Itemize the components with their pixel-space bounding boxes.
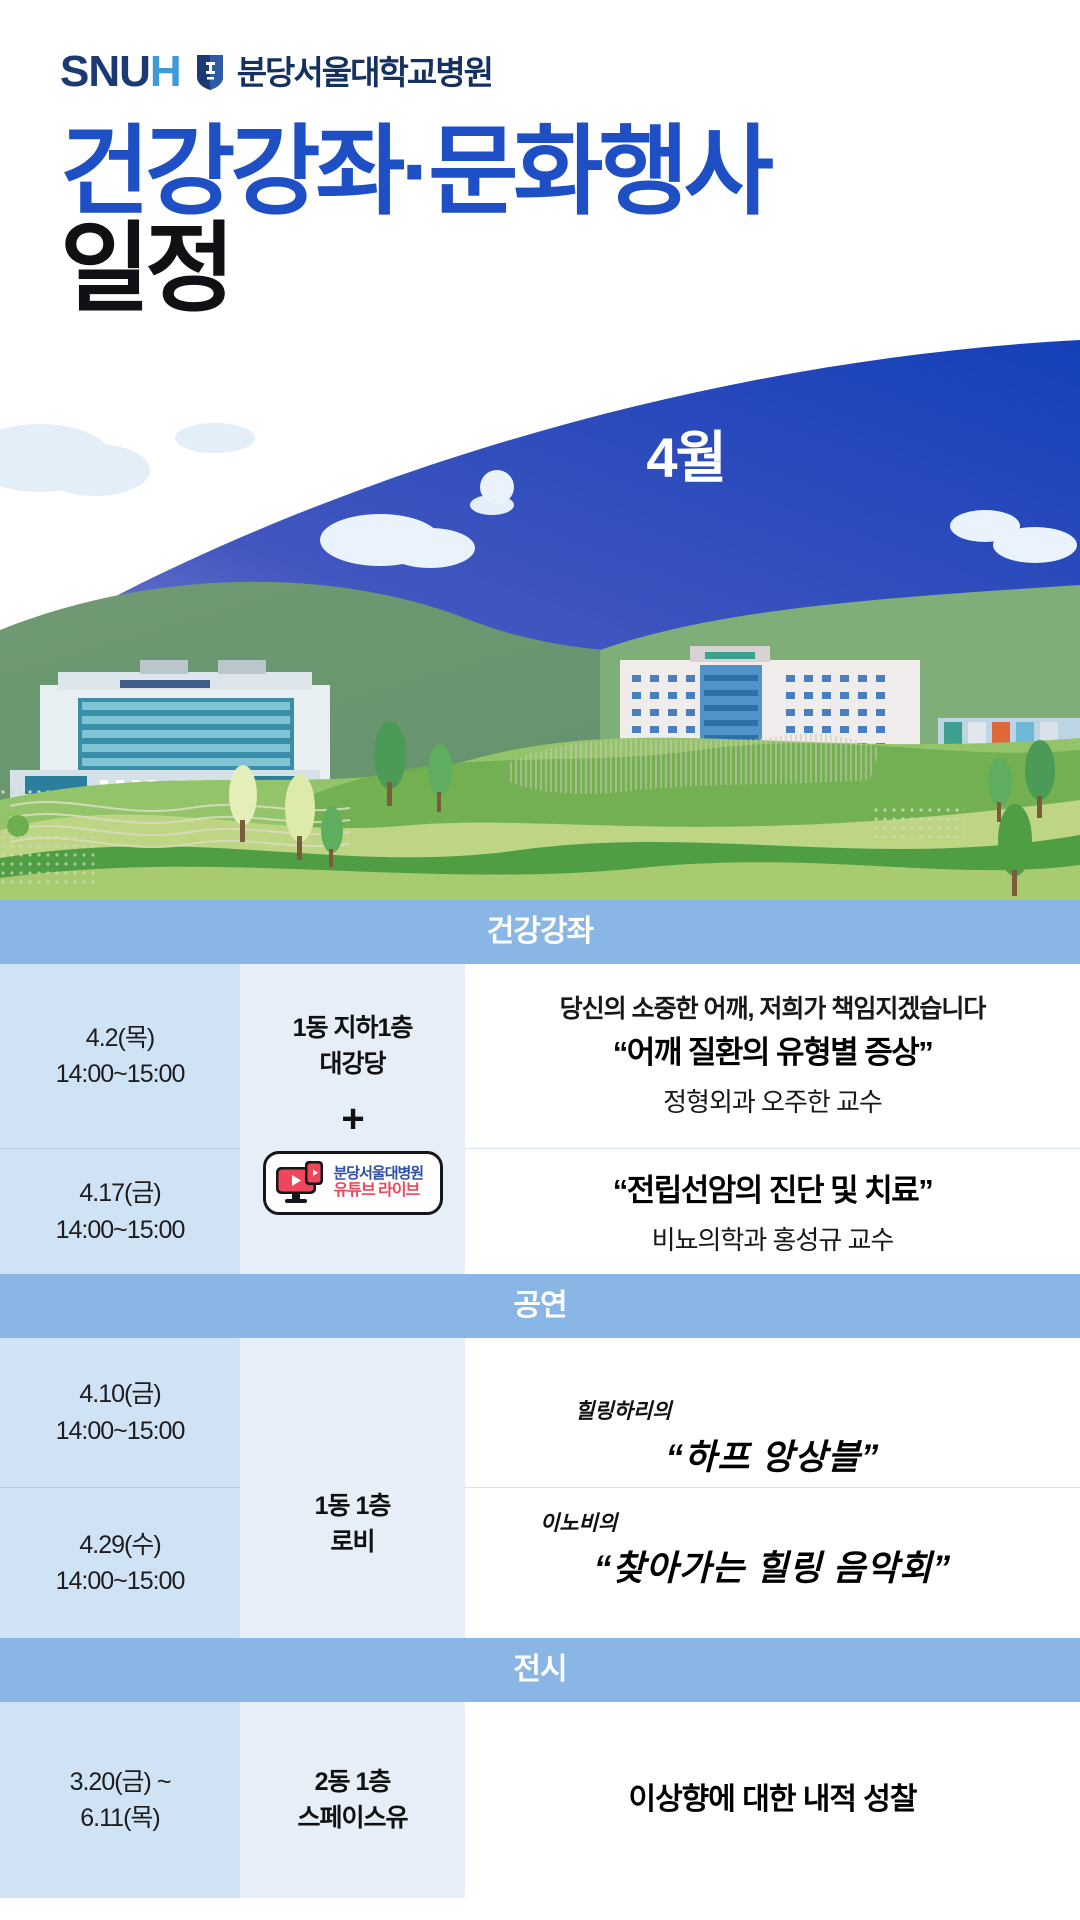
page-title-line2: 일정 bbox=[60, 217, 1080, 320]
month-badge: 4월 bbox=[646, 430, 725, 486]
row-place-cell: 1동 지하1층 대강당 + bbox=[240, 964, 465, 1149]
place-line-2: 로비 bbox=[330, 1524, 374, 1560]
row-content-cell: 이노비의 “찾아가는 힐링 음악회” bbox=[465, 1488, 1080, 1638]
lecture-title: “어깨 질환의 유형별 증상” bbox=[613, 1031, 933, 1074]
youtube-live-badge[interactable]: 분당서울대병원 유튜브 라이브 bbox=[263, 1151, 443, 1215]
poster-root: SNUH 분당서울대학교병원 건강강좌·문화행사 일정 bbox=[0, 0, 1080, 1920]
section-header-performance: 공연 bbox=[0, 1274, 1080, 1338]
row-content-cell: 이상향에 대한 내적 성찰 bbox=[465, 1702, 1080, 1898]
table-row: 4.10(금) 14:00~15:00 힐링하리의 “하프 앙상블” bbox=[0, 1338, 1080, 1488]
date-line: 4.29(수) bbox=[79, 1527, 160, 1563]
row-place-cell-shared: 1동 1층 로비 bbox=[240, 1488, 465, 1638]
table-row: 4.29(수) 14:00~15:00 1동 1층 로비 이노비의 “찾아가는 … bbox=[0, 1488, 1080, 1638]
schedule-table: 건강강좌 4.2(목) 14:00~15:00 1동 지하1층 대강당 + 당신… bbox=[0, 900, 1080, 1898]
row-content-cell: 당신의 소중한 어깨, 저희가 책임지겠습니다 “어깨 질환의 유형별 증상” … bbox=[465, 964, 1080, 1149]
lecture-speaker: 비뇨의학과 홍성규 교수 bbox=[652, 1222, 894, 1258]
logo-wordmark: SNUH bbox=[60, 50, 181, 94]
section-header-health-lecture: 건강강좌 bbox=[0, 900, 1080, 964]
time-line: 14:00~15:00 bbox=[56, 1413, 185, 1449]
table-row: 4.2(목) 14:00~15:00 1동 지하1층 대강당 + 당신의 소중한… bbox=[0, 964, 1080, 1149]
youtube-badge-text: 분당서울대병원 유튜브 라이브 bbox=[334, 1165, 424, 1201]
place-line-1: 1동 지하1층 bbox=[293, 1010, 413, 1046]
logo-wordmark-highlight: H bbox=[150, 47, 181, 96]
youtube-live-monitor-icon bbox=[274, 1161, 328, 1205]
row-content-cell: 힐링하리의 “하프 앙상블” bbox=[465, 1338, 1080, 1488]
performance-artist: 힐링하리의 bbox=[575, 1398, 672, 1425]
time-line: 14:00~15:00 bbox=[56, 1563, 185, 1599]
youtube-badge-line1: 분당서울대병원 bbox=[334, 1165, 424, 1182]
date-line: 4.17(금) bbox=[79, 1175, 160, 1211]
performance-artist: 이노비의 bbox=[540, 1510, 617, 1537]
time-line: 14:00~15:00 bbox=[56, 1212, 185, 1248]
row-place-cell: 분당서울대병원 유튜브 라이브 bbox=[240, 1149, 465, 1274]
hospital-logo: SNUH 분당서울대학교병원 bbox=[60, 50, 1080, 94]
exhibition-title: 이상향에 대한 내적 성찰 bbox=[628, 1779, 916, 1821]
row-date-cell: 4.29(수) 14:00~15:00 bbox=[0, 1488, 240, 1638]
place-line-2: 대강당 bbox=[319, 1046, 385, 1082]
page-title-line1: 건강강좌·문화행사 bbox=[60, 120, 1080, 223]
logo-korean-name: 분당서울대학교병원 bbox=[237, 56, 492, 89]
row-date-cell: 4.2(목) 14:00~15:00 bbox=[0, 964, 240, 1149]
date-line-end: 6.11(목) bbox=[80, 1800, 159, 1836]
date-line: 3.20(금) ~ bbox=[70, 1764, 171, 1800]
row-date-cell: 4.17(금) 14:00~15:00 bbox=[0, 1149, 240, 1274]
date-line: 4.10(금) bbox=[79, 1376, 160, 1412]
performance-title: “찾아가는 힐링 음악회” bbox=[594, 1545, 951, 1592]
table-row: 3.20(금) ~ 6.11(목) 2동 1층 스페이스유 이상향에 대한 내적… bbox=[0, 1702, 1080, 1898]
row-date-cell: 4.10(금) 14:00~15:00 bbox=[0, 1338, 240, 1488]
performance-title: “하프 앙상블” bbox=[666, 1434, 880, 1481]
plus-symbol: + bbox=[341, 1099, 363, 1139]
place-line-2: 스페이스유 bbox=[297, 1800, 407, 1836]
lecture-subtitle: 당신의 소중한 어깨, 저희가 책임지겠습니다 bbox=[560, 992, 986, 1027]
lecture-speaker: 정형외과 오주한 교수 bbox=[663, 1084, 882, 1120]
place-line-1: 1동 1층 bbox=[315, 1488, 391, 1524]
row-content-cell: “전립선암의 진단 및 치료” 비뇨의학과 홍성규 교수 bbox=[465, 1149, 1080, 1274]
hospital-campus-illustration bbox=[0, 330, 1080, 900]
date-line: 4.2(목) bbox=[86, 1020, 154, 1056]
section-header-exhibition: 전시 bbox=[0, 1638, 1080, 1702]
row-place-cell: 2동 1층 스페이스유 bbox=[240, 1702, 465, 1898]
poster-header: SNUH 분당서울대학교병원 건강강좌·문화행사 일정 bbox=[0, 0, 1080, 320]
row-place-cell bbox=[240, 1338, 465, 1488]
shield-emblem-icon bbox=[195, 53, 225, 91]
row-date-cell: 3.20(금) ~ 6.11(목) bbox=[0, 1702, 240, 1898]
place-line-1: 2동 1층 bbox=[315, 1764, 391, 1800]
table-row: 4.17(금) 14:00~15:00 bbox=[0, 1149, 1080, 1274]
time-line: 14:00~15:00 bbox=[56, 1056, 185, 1092]
lecture-title: “전립선암의 진단 및 치료” bbox=[613, 1169, 933, 1212]
youtube-badge-line2: 유튜브 라이브 bbox=[334, 1182, 420, 1200]
